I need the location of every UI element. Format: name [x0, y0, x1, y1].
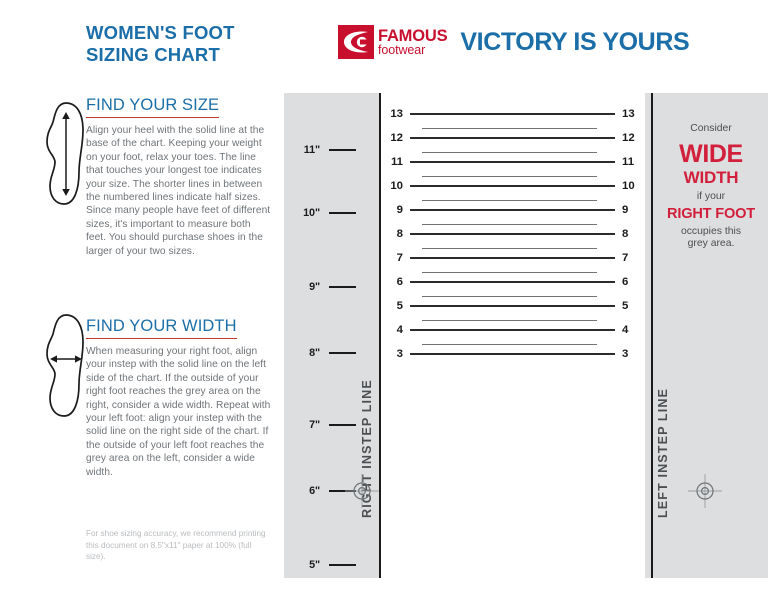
- half-size-line: [422, 152, 597, 153]
- inch-mark-label: 9": [294, 281, 320, 293]
- size-line-row: 7 7: [380, 252, 645, 264]
- size-label-right: 10: [622, 180, 645, 192]
- size-label-right: 9: [622, 204, 645, 216]
- foot-length-icon: [44, 100, 88, 213]
- inch-mark-label: 5": [294, 559, 320, 571]
- foot-width-icon: [44, 312, 88, 425]
- registration-target-icon: [345, 474, 379, 508]
- size-line-bar: [410, 305, 615, 307]
- half-size-line: [422, 128, 597, 129]
- size-label-left: 4: [380, 324, 403, 336]
- inch-mark-dash: [329, 286, 356, 288]
- section-find-your-size-heading: FIND YOUR SIZE: [86, 96, 219, 118]
- brand-name-famous: FAMOUS: [378, 28, 447, 45]
- size-line-bar: [410, 281, 615, 283]
- size-label-right: 7: [622, 252, 645, 264]
- size-line-row: 4 4: [380, 324, 645, 336]
- section-find-your-size-body: Align your heel with the solid line at t…: [86, 124, 271, 258]
- inch-mark-label: 10": [294, 207, 320, 219]
- size-label-right: 3: [622, 348, 645, 360]
- section-find-your-size: FIND YOUR SIZE Align your heel with the …: [86, 96, 271, 258]
- size-line-row: 3 3: [380, 348, 645, 360]
- size-label-left: 6: [380, 276, 403, 288]
- size-label-left: 7: [380, 252, 403, 264]
- size-label-right: 4: [622, 324, 645, 336]
- size-line-bar: [410, 233, 615, 235]
- size-label-right: 13: [622, 108, 645, 120]
- left-instep-line: [651, 93, 653, 578]
- size-line-row: 10 10: [380, 180, 645, 192]
- sizing-chart-page: WOMEN'S FOOT SIZING CHART FIND YOUR SIZE: [0, 0, 768, 591]
- size-line-bar: [410, 185, 615, 187]
- wide-info-width: WIDTH: [656, 168, 766, 188]
- size-label-left: 3: [380, 348, 403, 360]
- size-label-left: 13: [380, 108, 403, 120]
- famous-footwear-logo-icon: [338, 23, 374, 61]
- half-size-line: [422, 320, 597, 321]
- inch-mark-dash: [329, 212, 356, 214]
- inch-mark-label: 6": [294, 485, 320, 497]
- size-line-row: 11 11: [380, 156, 645, 168]
- half-size-line: [422, 296, 597, 297]
- size-lines-group: 13 13 12 12 11 11 10 10: [380, 93, 645, 578]
- size-label-left: 10: [380, 180, 403, 192]
- size-line-bar: [410, 257, 615, 259]
- size-label-left: 9: [380, 204, 403, 216]
- inch-mark-row: 11": [294, 144, 376, 156]
- size-label-left: 12: [380, 132, 403, 144]
- page-title: WOMEN'S FOOT SIZING CHART: [86, 22, 276, 66]
- inch-mark-row: 5": [294, 559, 376, 571]
- size-line-bar: [410, 353, 615, 355]
- half-size-line: [422, 272, 597, 273]
- size-label-left: 8: [380, 228, 403, 240]
- wide-width-info-panel: Consider WIDE WIDTH if your RIGHT FOOT o…: [656, 123, 766, 250]
- left-instructions-column: WOMEN'S FOOT SIZING CHART FIND YOUR SIZE: [0, 0, 272, 591]
- half-size-line: [422, 176, 597, 177]
- inch-mark-dash: [329, 149, 356, 151]
- inch-mark-label: 11": [294, 144, 320, 156]
- page-title-line-2: SIZING CHART: [86, 44, 276, 66]
- brand-tagline: VICTORY IS YOURS: [460, 28, 689, 57]
- size-line-bar: [410, 329, 615, 331]
- measuring-chart: RIGHT INSTEP LINE LEFT INSTEP LINE 11" 1…: [284, 93, 768, 578]
- size-line-row: 13 13: [380, 108, 645, 120]
- size-line-row: 6 6: [380, 276, 645, 288]
- inch-mark-label: 8": [294, 347, 320, 359]
- inch-mark-dash: [329, 424, 356, 426]
- half-size-line: [422, 200, 597, 201]
- wide-info-right-foot: RIGHT FOOT: [656, 206, 766, 223]
- size-line-bar: [410, 161, 615, 163]
- half-size-line: [422, 248, 597, 249]
- size-label-right: 11: [622, 156, 645, 168]
- inch-mark-dash: [329, 564, 356, 566]
- size-line-bar: [410, 113, 615, 115]
- size-label-right: 8: [622, 228, 645, 240]
- size-label-left: 5: [380, 300, 403, 312]
- wide-info-grey-area: grey area.: [656, 238, 766, 250]
- section-find-your-width: FIND YOUR WIDTH When measuring your righ…: [86, 317, 271, 479]
- brand-wordmark: FAMOUS footwear: [378, 28, 447, 57]
- wide-info-consider: Consider: [656, 123, 766, 135]
- section-find-your-width-body: When measuring your right foot, align yo…: [86, 345, 271, 479]
- page-title-line-1: WOMEN'S FOOT: [86, 22, 235, 43]
- inch-mark-row: 9": [294, 281, 376, 293]
- brand-header: FAMOUS footwear VICTORY IS YOURS: [338, 22, 689, 62]
- size-line-row: 5 5: [380, 300, 645, 312]
- size-label-right: 6: [622, 276, 645, 288]
- size-label-left: 11: [380, 156, 403, 168]
- registration-target-icon: [688, 474, 722, 508]
- inch-mark-dash: [329, 352, 356, 354]
- wide-info-occupies: occupies this: [656, 226, 766, 238]
- size-line-bar: [410, 137, 615, 139]
- left-instep-line-label: LEFT INSTEP LINE: [656, 388, 670, 518]
- size-line-row: 9 9: [380, 204, 645, 216]
- size-line-bar: [410, 209, 615, 211]
- size-label-right: 5: [622, 300, 645, 312]
- size-line-row: 12 12: [380, 132, 645, 144]
- wide-info-if-your: if your: [656, 191, 766, 203]
- inch-mark-row: 7": [294, 419, 376, 431]
- brand-name-footwear: footwear: [378, 44, 447, 57]
- half-size-line: [422, 344, 597, 345]
- inch-mark-row: 8": [294, 347, 376, 359]
- size-line-row: 8 8: [380, 228, 645, 240]
- half-size-line: [422, 224, 597, 225]
- wide-info-wide: WIDE: [656, 140, 766, 169]
- inch-mark-row: 10": [294, 207, 376, 219]
- size-label-right: 12: [622, 132, 645, 144]
- printing-footnote: For shoe sizing accuracy, we recommend p…: [86, 528, 266, 563]
- inch-mark-label: 7": [294, 419, 320, 431]
- section-find-your-width-heading: FIND YOUR WIDTH: [86, 317, 237, 339]
